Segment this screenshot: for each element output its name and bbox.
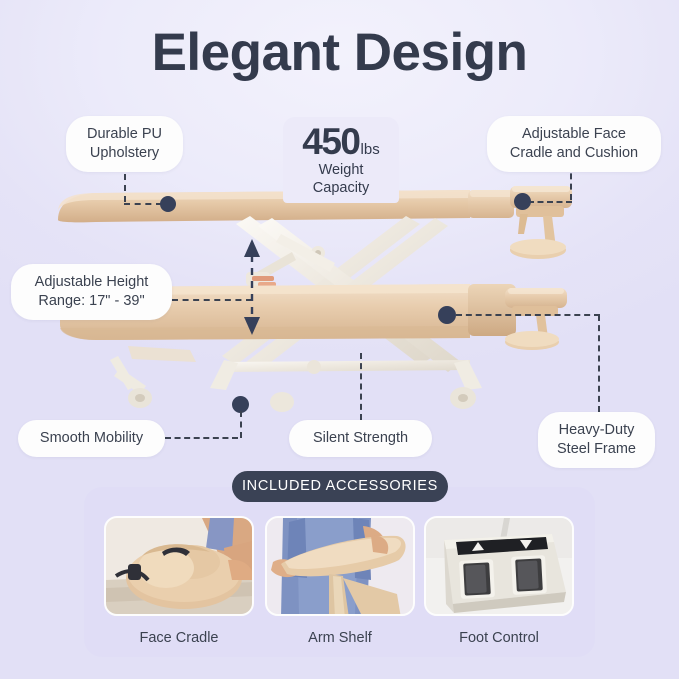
accessory-item-arm-shelf[interactable]: Arm Shelf — [265, 516, 415, 646]
accessory-caption-foot-control: Foot Control — [424, 630, 574, 646]
weight-capacity-label: Weight Capacity — [283, 161, 399, 197]
arm-shelf-photo[interactable] — [265, 516, 415, 616]
callout-adjustable-face-cradle: Adjustable Face Cradle and Cushion — [487, 116, 661, 172]
accessory-caption-face-cradle: Face Cradle — [104, 630, 254, 646]
height-adjust-arrow — [243, 239, 261, 335]
accessory-caption-arm-shelf: Arm Shelf — [265, 630, 415, 646]
marker-upholstery — [160, 196, 176, 212]
page-title: Elegant Design — [0, 24, 679, 82]
weight-capacity-badge: 450lbs Weight Capacity — [283, 117, 399, 203]
callout-durable-pu-upholstery: Durable PU Upholstery — [66, 116, 183, 172]
leader-upholstery-horizontal — [124, 203, 162, 205]
callout-adjustable-height-range: Adjustable Height Range: 17" - 39" — [11, 264, 172, 320]
marker-steel-frame — [438, 306, 456, 324]
leader-frame-vertical — [598, 315, 600, 412]
included-accessories-title: INCLUDED ACCESSORIES — [232, 471, 448, 502]
callout-heavy-duty-steel-frame: Heavy-Duty Steel Frame — [538, 412, 655, 468]
accessory-item-face-cradle[interactable]: Face Cradle — [104, 516, 254, 646]
leader-mobility-vertical — [240, 411, 242, 438]
infographic-page: Elegant Design — [0, 0, 679, 679]
leader-height-horizontal — [172, 299, 252, 301]
callout-silent-strength: Silent Strength — [289, 420, 432, 457]
foot-control-photo[interactable] — [424, 516, 574, 616]
weight-value: 450 — [302, 123, 359, 160]
accessory-item-foot-control[interactable]: Foot Control — [424, 516, 574, 646]
callout-smooth-mobility: Smooth Mobility — [18, 420, 165, 457]
face-cradle-photo[interactable] — [104, 516, 254, 616]
weight-unit: lbs — [361, 141, 380, 158]
leader-mobility-horizontal — [165, 437, 238, 439]
marker-face-cradle — [514, 193, 531, 210]
lower-arm-shelf — [110, 346, 196, 390]
leader-silent-vertical — [360, 353, 362, 420]
weight-value-row: 450lbs — [283, 123, 399, 160]
leader-frame-horizontal — [456, 314, 600, 316]
leader-cradle-horizontal — [528, 201, 572, 203]
